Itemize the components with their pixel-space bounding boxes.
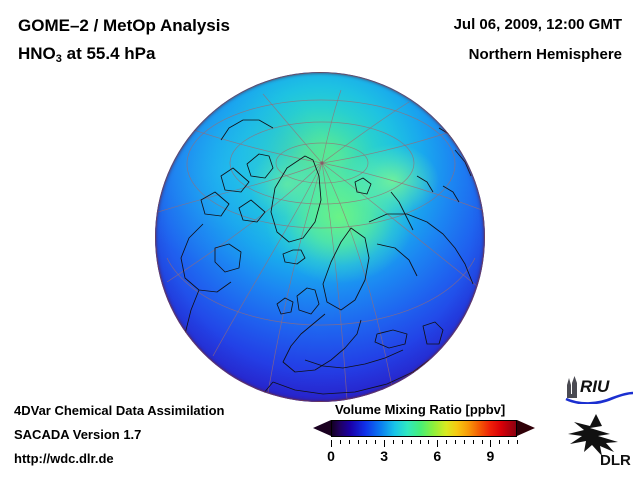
riu-logo: RIU [563, 374, 635, 404]
globe-container [155, 72, 485, 402]
dlr-wordmark: DLR [600, 452, 631, 468]
colorbar-tick-labels: 0369 [313, 448, 535, 468]
footer-method: 4DVar Chemical Data Assimilation [14, 403, 225, 418]
colorbar-tick-minor [358, 440, 359, 444]
colorbar-tick-minor [366, 440, 367, 444]
colorbar-under-arrow [313, 420, 331, 436]
footer-version: SACADA Version 1.7 [14, 427, 141, 442]
colorbar-tick-minor [517, 440, 518, 444]
colorbar-gradient [331, 420, 517, 437]
riu-wordmark: RIU [580, 377, 610, 396]
colorbar-label: 0 [327, 448, 335, 464]
colorbar [313, 418, 535, 440]
colorbar-over-arrow [517, 420, 535, 436]
colorbar-tick-minor [473, 440, 474, 444]
colorbar-tick-minor [402, 440, 403, 444]
colorbar-tick-minor [411, 440, 412, 444]
species-pressure-level: at 55.4 hPa [62, 44, 156, 63]
colorbar-label: 9 [486, 448, 494, 464]
colorbar-tick-minor [482, 440, 483, 444]
dlr-eagle-icon [568, 414, 618, 456]
dlr-logo: DLR [566, 412, 636, 468]
globe-rim [155, 72, 485, 402]
date-time-label: Jul 06, 2009, 12:00 GMT [454, 16, 622, 33]
riu-cathedral-icon [567, 376, 577, 398]
colorbar-tick-major [331, 440, 332, 447]
colorbar-title: Volume Mixing Ratio [ppbv] [335, 402, 505, 417]
colorbar-tick-minor [428, 440, 429, 444]
species-formula-subscript: 3 [56, 53, 62, 65]
colorbar-tick-minor [420, 440, 421, 444]
colorbar-tick-major [490, 440, 491, 447]
colorbar-tick-minor [499, 440, 500, 444]
colorbar-tick-minor [349, 440, 350, 444]
colorbar-tick-major [384, 440, 385, 447]
species-formula-prefix: HNO [18, 44, 56, 63]
footer-url[interactable]: http://wdc.dlr.de [14, 451, 114, 466]
colorbar-tick-minor [464, 440, 465, 444]
colorbar-tick-minor [340, 440, 341, 444]
colorbar-tick-minor [446, 440, 447, 444]
hemisphere-label: Northern Hemisphere [469, 46, 622, 63]
colorbar-ticks [313, 440, 535, 447]
page-title-instrument: GOME–2 / MetOp Analysis [18, 16, 230, 36]
colorbar-tick-minor [375, 440, 376, 444]
colorbar-tick-minor [455, 440, 456, 444]
colorbar-label: 3 [380, 448, 388, 464]
globe-sphere [155, 72, 485, 402]
colorbar-tick-minor [508, 440, 509, 444]
colorbar-label: 6 [433, 448, 441, 464]
colorbar-tick-major [437, 440, 438, 447]
page-title-species: HNO3 at 55.4 hPa [18, 44, 155, 64]
colorbar-tick-minor [393, 440, 394, 444]
